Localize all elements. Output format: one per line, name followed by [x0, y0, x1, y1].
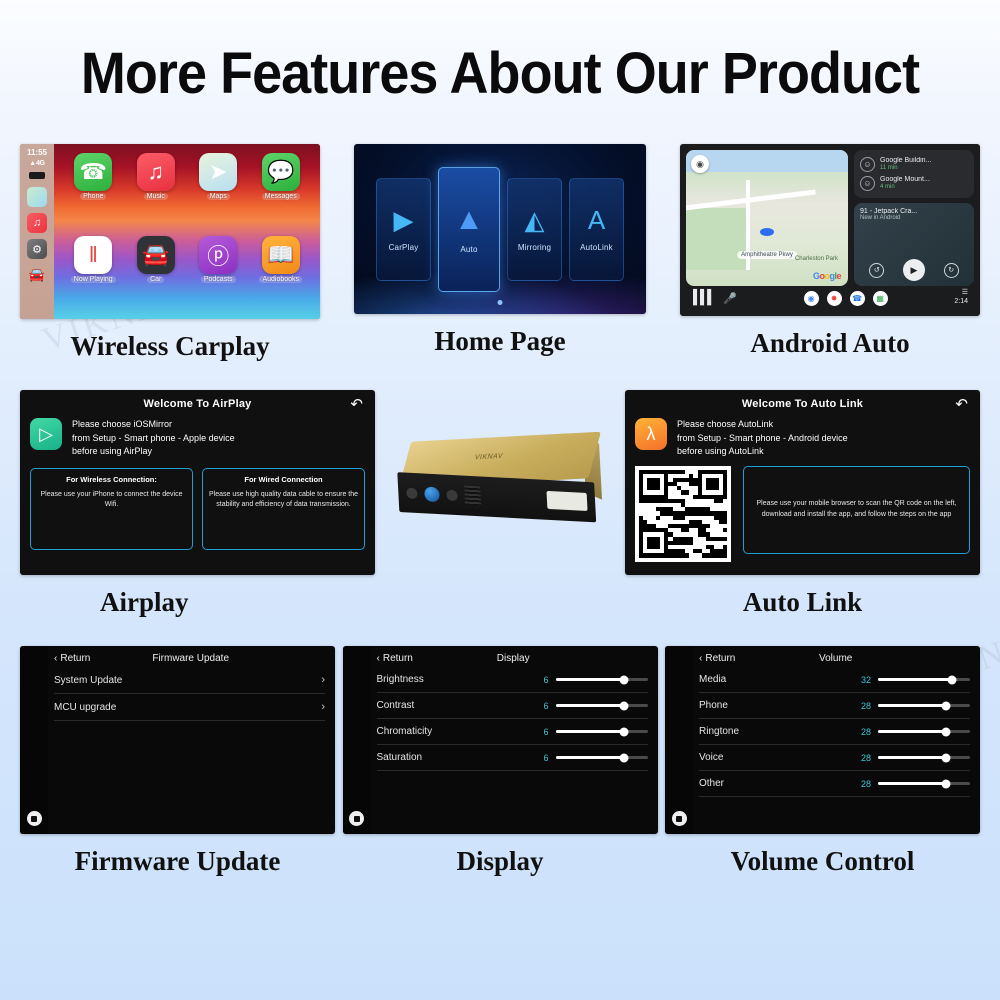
row-label: Voice: [699, 752, 723, 763]
return-button[interactable]: ‹ Return: [377, 653, 413, 664]
left-rail: [343, 646, 371, 834]
chevron-left-icon: ‹: [377, 653, 380, 664]
row-label: Phone: [699, 700, 728, 711]
slider-track[interactable]: [556, 756, 648, 759]
app-label: Music: [144, 193, 168, 200]
settings-slider-row[interactable]: Brightness6: [377, 667, 648, 693]
carplay-screen[interactable]: 11:55 ▲4G ♫ ⚙ 🚘 ☎Phone♫Music➤Maps💬Messag…: [20, 144, 320, 319]
current-location-pin: [760, 228, 774, 236]
device-blue-connector: [424, 485, 440, 501]
device-port: [446, 489, 458, 501]
google-logo: Google: [813, 271, 841, 281]
features-row-1: 11:55 ▲4G ♫ ⚙ 🚘 ☎Phone♫Music➤Maps💬Messag…: [0, 144, 1000, 362]
autolink-icon: A: [588, 207, 605, 233]
back-arrow-icon[interactable]: ↶: [350, 397, 363, 412]
sidebar-maps-icon[interactable]: [27, 187, 47, 207]
left-rail: [665, 646, 693, 834]
caption-firmware-update: Firmware Update: [75, 846, 281, 877]
box-title: For Wired Connection: [208, 475, 359, 484]
volume-screen[interactable]: ‹ Return Volume Media32Phone28Ringtone28…: [665, 646, 980, 834]
left-rail: [20, 646, 48, 834]
now-icon: ‖: [74, 236, 112, 274]
call-item[interactable]: ☺ Google Mount... 4 min: [860, 174, 968, 193]
feature-wireless-carplay: 11:55 ▲4G ♫ ⚙ 🚘 ☎Phone♫Music➤Maps💬Messag…: [20, 144, 320, 362]
product-device-photo: VIKNAV: [385, 390, 615, 575]
slider-knob[interactable]: [947, 675, 956, 684]
airplay-header: Welcome To AirPlay: [30, 398, 365, 410]
signal-indicator: ▲4G: [29, 160, 44, 167]
map-view[interactable]: ◉ Amphitheatre Pkwy Charleston Park Goog…: [686, 150, 848, 286]
slider-track[interactable]: [556, 730, 648, 733]
feature-volume-control: ‹ Return Volume Media32Phone28Ringtone28…: [665, 646, 980, 877]
home-page-screen[interactable]: ▶CarPlay▲Auto◭MirroringAAutoLink: [354, 144, 646, 314]
slider-fill: [556, 678, 624, 681]
app-label: Audiobooks: [259, 276, 302, 283]
media-controls: ↺ ▶ ↻: [860, 259, 968, 281]
slider-fill: [878, 704, 946, 707]
display-screen[interactable]: ‹ Return Display Brightness6Contrast6Chr…: [343, 646, 658, 834]
call-name: Google Buildin...: [880, 157, 931, 165]
app-label: Phone: [80, 193, 106, 200]
music-icon: ♫: [137, 153, 175, 191]
map-water: [686, 150, 848, 172]
slider-fill: [556, 704, 624, 707]
app-label: Messages: [262, 193, 300, 200]
carplay-app-pod[interactable]: ⓟPodcasts: [187, 236, 250, 313]
tile-label: CarPlay: [389, 243, 419, 252]
caption-airplay: Airplay: [100, 587, 189, 618]
slider-track[interactable]: [878, 678, 970, 681]
carplay-app-maps[interactable]: ➤Maps: [187, 153, 250, 230]
carplay-app-car[interactable]: 🚘Car: [125, 236, 188, 313]
device-vent: [464, 485, 481, 506]
qr-code: [635, 466, 731, 562]
row-label: Media: [699, 674, 726, 685]
media-app-icon[interactable]: ▦: [873, 291, 888, 306]
settings-row[interactable]: MCU upgrade›: [54, 694, 325, 721]
caption-wireless-carplay: Wireless Carplay: [70, 331, 269, 362]
feature-android-auto: ◉ Amphitheatre Pkwy Charleston Park Goog…: [680, 144, 980, 362]
row-value: 32: [861, 675, 878, 685]
slider-track[interactable]: [878, 782, 970, 785]
caption-display: Display: [456, 846, 543, 877]
page-indicator-dot: [498, 300, 503, 305]
row-label: Brightness: [377, 674, 424, 685]
slider-fill: [878, 782, 946, 785]
row-label: Chromaticity: [377, 726, 433, 737]
map-street-label: Amphitheatre Pkwy: [737, 251, 797, 259]
row-value: 28: [861, 779, 878, 789]
firmware-screen[interactable]: ‹ Return Firmware Update System Update›M…: [20, 646, 335, 834]
return-button[interactable]: ‹ Return: [699, 653, 735, 664]
media-title: 91 - Jetpack Cra...: [860, 208, 968, 215]
airplay-icon: ▷: [30, 418, 62, 450]
play-icon[interactable]: ▶: [903, 259, 925, 281]
device-port: [406, 486, 418, 498]
apps-launcher-icon[interactable]: ▮▮▮▮▮▮: [692, 290, 713, 305]
app-label: Now Playing: [71, 276, 116, 283]
row-label: System Update: [54, 675, 122, 686]
contact-avatar-icon: ☺: [860, 176, 875, 191]
media-subtitle: New in Android: [860, 215, 968, 221]
maps-icon: ➤: [199, 153, 237, 191]
carplay-app-music[interactable]: ♫Music: [125, 153, 188, 230]
carplay-icon: ▶: [394, 207, 414, 233]
autolink-note-box: Please use your mobile browser to scan t…: [743, 466, 970, 554]
slider-track[interactable]: [556, 678, 648, 681]
battery-icon: [29, 172, 45, 179]
return-button[interactable]: ‹ Return: [54, 653, 90, 664]
tile-label: Auto: [460, 245, 477, 254]
settings-slider-row[interactable]: Ringtone28: [699, 719, 970, 745]
slider-fill: [878, 756, 946, 759]
car-icon: 🚘: [137, 236, 175, 274]
home-button-icon[interactable]: [672, 811, 687, 826]
features-row-3: ‹ Return Firmware Update System Update›M…: [0, 646, 1000, 877]
carplay-app-now[interactable]: ‖Now Playing: [62, 236, 125, 313]
row-value: 6: [543, 753, 555, 763]
settings-slider-row[interactable]: Voice28: [699, 745, 970, 771]
slider-track[interactable]: [878, 704, 970, 707]
call-item[interactable]: ☺ Google Buildin... 11 min: [860, 155, 968, 174]
device-white-connector: [546, 490, 587, 510]
recent-calls-card[interactable]: ☺ Google Buildin... 11 min ☺ Google Moun…: [854, 150, 974, 198]
slider-track[interactable]: [556, 704, 648, 707]
chevron-right-icon: ›: [321, 701, 325, 713]
row-value: 6: [543, 701, 555, 711]
signal-icon: ☰: [962, 289, 968, 296]
pod-icon: ⓟ: [199, 236, 237, 274]
settings-slider-row[interactable]: Chromaticity6: [377, 719, 648, 745]
android-auto-top: ◉ Amphitheatre Pkwy Charleston Park Goog…: [686, 150, 974, 286]
box-text: Please use your mobile browser to scan t…: [751, 499, 962, 519]
slider-knob[interactable]: [942, 753, 951, 762]
row-label: Contrast: [377, 700, 415, 711]
page-title: More Features About Our Product: [35, 0, 965, 107]
carplay-app-book[interactable]: 📖Audiobooks: [250, 236, 313, 313]
home-button-icon[interactable]: [349, 811, 364, 826]
back-arrow-icon[interactable]: ↶: [955, 397, 968, 412]
slider-knob[interactable]: [942, 779, 951, 788]
wireless-connection-box: For Wireless Connection: Please use your…: [30, 468, 193, 550]
autolink-icon: λ: [635, 418, 667, 450]
map-park-area: [686, 208, 748, 270]
chevron-left-icon: ‹: [54, 653, 57, 664]
status-time: 11:55: [27, 148, 47, 157]
slider-track[interactable]: [878, 730, 970, 733]
caption-home-page: Home Page: [434, 326, 565, 357]
row-label: Other: [699, 778, 724, 789]
features-row-2: Welcome To AirPlay ↶ ▷ Please choose iOS…: [0, 390, 1000, 618]
airplay-screen[interactable]: Welcome To AirPlay ↶ ▷ Please choose iOS…: [20, 390, 375, 575]
carplay-interface-box: VIKNAV: [395, 431, 605, 534]
settings-slider-row[interactable]: Other28: [699, 771, 970, 797]
slider-knob[interactable]: [619, 753, 628, 762]
rewind-10-icon[interactable]: ↺: [869, 263, 884, 278]
row-value: 6: [543, 675, 555, 685]
device-brand-logo: VIKNAV: [473, 452, 503, 461]
app-label: Podcasts: [201, 276, 236, 283]
call-name: Google Mount...: [880, 176, 930, 184]
airplay-instruction: Please choose iOSMirror from Setup - Sma…: [72, 418, 235, 459]
app-label: Maps: [207, 193, 230, 200]
apps-grid-icon[interactable]: ✸: [827, 291, 842, 306]
screen-title: Display: [413, 653, 648, 664]
screen-title: Volume: [735, 653, 970, 664]
settings-slider-row[interactable]: Phone28: [699, 693, 970, 719]
tile-label: AutoLink: [580, 243, 613, 252]
carplay-app-phone[interactable]: ☎Phone: [62, 153, 125, 230]
settings-slider-row[interactable]: Saturation6: [377, 745, 648, 771]
feature-home-page: ▶CarPlay▲Auto◭MirroringAAutoLink Home Pa…: [354, 144, 646, 362]
feature-airplay: Welcome To AirPlay ↶ ▷ Please choose iOS…: [20, 390, 375, 618]
slider-knob[interactable]: [619, 727, 628, 736]
row-value: 28: [861, 701, 878, 711]
home-tile-carplay[interactable]: ▶CarPlay: [376, 178, 431, 281]
slider-fill: [556, 730, 624, 733]
box-text: Please use your iPhone to connect the de…: [36, 490, 187, 510]
home-tile-mirroring[interactable]: ◭Mirroring: [507, 178, 562, 281]
settings-row[interactable]: System Update›: [54, 667, 325, 694]
settings-slider-row[interactable]: Media32: [699, 667, 970, 693]
android-auto-taskbar: ▮▮▮▮▮▮ 🎤 ◉ ✸ ☎ ▦ ☰ 2:14: [686, 286, 974, 310]
settings-slider-row[interactable]: Contrast6: [377, 693, 648, 719]
maps-app-icon[interactable]: ◉: [804, 291, 819, 306]
autolink-header: Welcome To Auto Link: [635, 398, 970, 410]
forward-10-icon[interactable]: ↻: [944, 263, 959, 278]
sidebar-car-icon[interactable]: 🚘: [27, 265, 47, 285]
android-auto-screen[interactable]: ◉ Amphitheatre Pkwy Charleston Park Goog…: [680, 144, 980, 316]
home-button-icon[interactable]: [27, 811, 42, 826]
app-label: Car: [147, 276, 164, 283]
status-clock: ☰ 2:14: [954, 289, 968, 307]
box-text: Please use high quality data cable to en…: [208, 490, 359, 510]
caption-android-auto: Android Auto: [750, 328, 909, 359]
microphone-icon[interactable]: 🎤: [723, 292, 737, 305]
android-auto-cards: ☺ Google Buildin... 11 min ☺ Google Moun…: [854, 150, 974, 286]
home-tile-autolink[interactable]: AAutoLink: [569, 178, 624, 281]
feature-auto-link: Welcome To Auto Link ↶ λ Please choose A…: [625, 390, 980, 618]
caption-volume-control: Volume Control: [731, 846, 915, 877]
feature-firmware-update: ‹ Return Firmware Update System Update›M…: [20, 646, 335, 877]
book-icon: 📖: [262, 236, 300, 274]
map-place-label: Charleston Park: [795, 256, 838, 262]
chevron-right-icon: ›: [321, 674, 325, 686]
carplay-home-grid: ☎Phone♫Music➤Maps💬Messages‖Now Playing🚘C…: [54, 144, 320, 319]
slider-fill: [556, 756, 624, 759]
slider-knob[interactable]: [942, 727, 951, 736]
slider-fill: [878, 678, 952, 681]
screen-title: Firmware Update: [90, 653, 325, 664]
carplay-app-msg[interactable]: 💬Messages: [250, 153, 313, 230]
call-time: 4 min: [880, 184, 930, 191]
slider-knob[interactable]: [619, 675, 628, 684]
sidebar-settings-icon[interactable]: ⚙: [27, 239, 47, 259]
row-value: 6: [543, 727, 555, 737]
home-tile-auto[interactable]: ▲Auto: [438, 167, 500, 292]
contact-avatar-icon: ☺: [860, 157, 875, 172]
row-value: 28: [861, 753, 878, 763]
slider-fill: [878, 730, 946, 733]
phone-app-icon[interactable]: ☎: [850, 291, 865, 306]
row-value: 28: [861, 727, 878, 737]
sidebar-music-icon[interactable]: ♫: [27, 213, 47, 233]
call-time: 11 min: [880, 165, 931, 172]
autolink-instruction: Please choose AutoLink from Setup - Smar…: [677, 418, 848, 459]
msg-icon: 💬: [262, 153, 300, 191]
carplay-sidebar[interactable]: 11:55 ▲4G ♫ ⚙ 🚘: [20, 144, 54, 319]
phone-icon: ☎: [74, 153, 112, 191]
row-label: Saturation: [377, 752, 423, 763]
caption-auto-link: Auto Link: [743, 587, 862, 618]
slider-knob[interactable]: [619, 701, 628, 710]
row-label: MCU upgrade: [54, 702, 116, 713]
tile-label: Mirroring: [518, 243, 551, 252]
slider-track[interactable]: [878, 756, 970, 759]
wired-connection-box: For Wired Connection Please use high qua…: [202, 468, 365, 550]
auto-icon: ▲: [454, 205, 484, 235]
chevron-left-icon: ‹: [699, 653, 702, 664]
mirroring-icon: ◭: [525, 207, 545, 233]
box-title: For Wireless Connection:: [36, 475, 187, 484]
signal-bars-icon: ▲: [29, 160, 36, 167]
feature-display: ‹ Return Display Brightness6Contrast6Chr…: [343, 646, 658, 877]
row-label: Ringtone: [699, 726, 739, 737]
autolink-screen[interactable]: Welcome To Auto Link ↶ λ Please choose A…: [625, 390, 980, 575]
compass-icon[interactable]: ◉: [691, 155, 709, 173]
slider-knob[interactable]: [942, 701, 951, 710]
media-player-card[interactable]: 91 - Jetpack Cra... New in Android ↺ ▶ ↻: [854, 203, 974, 286]
app-dock: ◉ ✸ ☎ ▦: [747, 291, 945, 306]
